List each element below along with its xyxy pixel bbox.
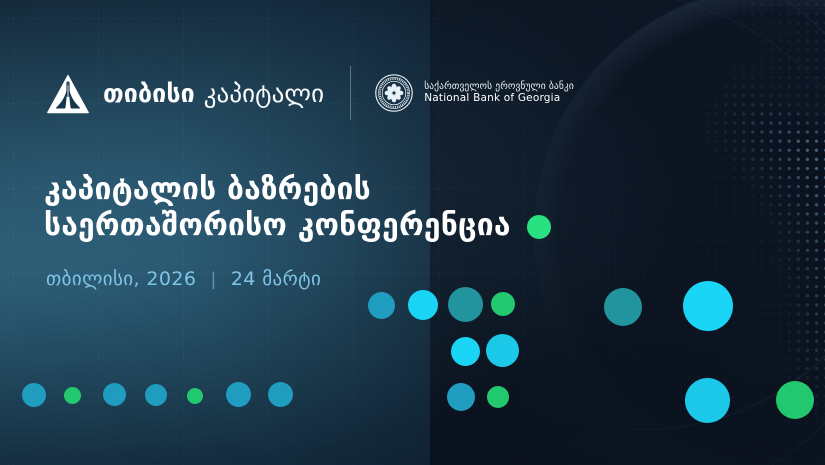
headline-line-2: საერთაშორისო კონფერენცია — [44, 208, 511, 244]
national-bank-of-georgia-emblem-icon — [375, 74, 413, 112]
logo-divider — [350, 66, 351, 120]
conference-banner: თიბისი კაპიტალი — [0, 0, 825, 465]
dot-r1-c1 — [368, 292, 395, 319]
dot-r3-c1 — [22, 383, 46, 407]
event-place-year: თბილისი, 2026 — [46, 268, 196, 290]
dateline-separator: | — [210, 269, 216, 290]
tbc-triangle-logo-icon — [46, 73, 90, 114]
tbc-word-light: კაპიტალი — [204, 79, 325, 108]
tbc-capital-logo[interactable]: თიბისი კაპიტალი — [46, 73, 324, 114]
event-day-month: 24 მარტი — [231, 268, 321, 290]
dot-r1-c2 — [408, 290, 438, 320]
dot-r1-c6 — [683, 281, 733, 331]
dot-r3-c6 — [226, 382, 251, 407]
dot-r3-c11 — [776, 381, 814, 419]
dot-r3-c10 — [685, 378, 730, 423]
logo-lockup-row: თიბისი კაპიტალი — [46, 66, 574, 120]
headline-block: კაპიტალის ბაზრების საერთაშორისო კონფერენ… — [44, 172, 624, 244]
dot-r3-c4 — [145, 384, 167, 406]
dot-r3-c5 — [187, 388, 203, 404]
nbg-name-english: National Bank of Georgia — [424, 93, 574, 104]
headline-line-2-row: საერთაშორისო კონფერენცია — [44, 208, 624, 244]
dot-r3-c3 — [103, 383, 126, 406]
dot-r3-c2 — [64, 387, 81, 404]
dot-r1-c4 — [491, 292, 515, 316]
dot-r2-c1 — [451, 337, 480, 366]
dot-r2-c2 — [486, 334, 519, 367]
dot-r3-c7 — [268, 382, 293, 407]
dot-r1-c3 — [448, 287, 483, 322]
dot-r3-c8 — [447, 383, 475, 411]
headline-line-1: კაპიტალის ბაზრების — [44, 172, 624, 208]
dot-r3-c9 — [487, 386, 509, 408]
national-bank-of-georgia-logo[interactable]: საქართველოს ეროვნული ბანკი National Bank… — [375, 74, 574, 112]
headline-accent-dot — [527, 215, 551, 239]
dot-r1-c5 — [604, 288, 642, 326]
event-dateline: თბილისი, 2026 | 24 მარტი — [46, 268, 321, 290]
tbc-word-bold: თიბისი — [103, 79, 195, 108]
national-bank-name-block: საქართველოს ეროვნული ბანკი National Bank… — [424, 82, 574, 105]
nbg-name-georgian: საქართველოს ეროვნული ბანკი — [424, 82, 574, 92]
tbc-capital-wordmark: თიბისი კაპიტალი — [103, 81, 324, 106]
